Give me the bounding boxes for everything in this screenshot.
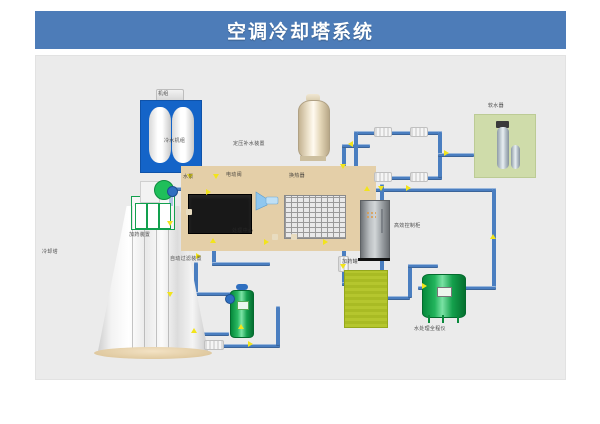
dosing-cell xyxy=(135,203,147,229)
softener-panel[interactable] xyxy=(474,114,536,178)
label-cooling-tower: 冷却塔 xyxy=(42,249,58,255)
chiller-unit[interactable] xyxy=(140,100,202,173)
flow-arrow-down xyxy=(340,164,346,169)
pipe-segment xyxy=(408,264,412,298)
label-softener: 软水器 xyxy=(488,103,504,109)
flow-arrow-right xyxy=(422,283,427,289)
flow-arrow-up xyxy=(191,328,197,333)
pipe-joint xyxy=(186,209,192,215)
label-control-valve: 电动阀 xyxy=(226,172,242,178)
page-root: 空调冷却塔系统 xyxy=(0,0,600,424)
dosing-tank[interactable] xyxy=(344,270,388,328)
flow-arrow-down xyxy=(167,292,173,297)
expansion-joint xyxy=(374,127,392,137)
filter-gauge xyxy=(237,301,249,310)
water-treatment-vessel[interactable] xyxy=(422,274,466,318)
expansion-water-vessel[interactable] xyxy=(298,100,330,160)
pipe-segment xyxy=(212,262,270,266)
expansion-joint xyxy=(204,340,224,350)
vessel-leg xyxy=(457,315,459,323)
pipe-joint xyxy=(272,234,278,240)
expansion-joint xyxy=(410,127,428,137)
flow-arrow-up xyxy=(490,234,496,239)
filter-inlet-valve[interactable] xyxy=(225,294,235,304)
vessel-leg xyxy=(442,315,444,323)
flow-arrow-down xyxy=(167,221,173,226)
chiller-drum xyxy=(149,107,171,163)
vessel-gauge xyxy=(437,287,452,297)
flow-arrow-right xyxy=(248,341,253,347)
cooling-tower-base xyxy=(94,347,212,359)
vessel-leg xyxy=(428,315,430,323)
flow-arrow-down xyxy=(213,174,219,179)
label-dosing-tank: 加药罐 xyxy=(342,259,358,265)
pipe-segment xyxy=(408,264,438,268)
label-expansion-vessel: 定压补水装置 xyxy=(233,141,265,147)
label-chiller-unit: 冷水机组 xyxy=(164,138,185,144)
cabinet-handle xyxy=(381,209,383,233)
flow-arrow-left xyxy=(348,141,353,147)
expansion-joint xyxy=(410,172,428,182)
expansion-joint xyxy=(374,172,392,182)
label-self-cleaning-filter: 自动过滤装置 xyxy=(170,256,202,262)
label-chiller-top-cap: 机组 xyxy=(158,91,169,97)
page-title: 空调冷却塔系统 xyxy=(227,17,374,44)
cabinet-shadow xyxy=(358,258,390,261)
condenser-coil[interactable] xyxy=(284,195,346,239)
label-heat-exchanger: 换热器 xyxy=(289,173,305,179)
flow-arrow-right xyxy=(406,185,411,191)
flow-arrow-right xyxy=(323,239,328,245)
pipe-segment xyxy=(372,188,496,192)
diagram-stage: 冷却塔 冷水机组 机组 定压补水装置 加药装置 水泵 电动阀 换热器 处理中心 … xyxy=(36,56,567,381)
control-cabinet[interactable] xyxy=(360,200,390,260)
pipe-segment xyxy=(276,306,280,346)
label-water-treatment: 水处理全程仪 xyxy=(414,326,446,332)
diagram-canvas: 冷却塔 冷水机组 机组 定压补水装置 加药装置 水泵 电动阀 换热器 处理中心 … xyxy=(35,55,566,380)
chiller-drum xyxy=(172,107,194,163)
brine-tank xyxy=(511,145,520,169)
dosing-cell xyxy=(147,203,159,229)
flow-arrow-up xyxy=(364,186,370,191)
pipe-segment xyxy=(354,131,442,135)
pipe-joint xyxy=(291,234,297,240)
label-water-pump: 水泵 xyxy=(183,174,194,180)
cabinet-indicator-lights xyxy=(366,211,376,219)
flow-arrow-up xyxy=(238,324,244,329)
vessel-base xyxy=(300,156,326,161)
label-dosing-device: 加药装置 xyxy=(129,232,150,238)
flow-arrow-right xyxy=(444,150,449,156)
flow-arrow-down xyxy=(378,186,384,191)
blower-fan[interactable] xyxy=(254,190,280,212)
label-processing-center: 处理中心 xyxy=(232,228,253,234)
page-header: 空调冷却塔系统 xyxy=(35,11,566,49)
flow-arrow-up xyxy=(210,238,216,243)
flow-arrow-right xyxy=(264,239,269,245)
softener-vessel xyxy=(497,127,509,169)
dosing-pump-motor[interactable] xyxy=(167,186,178,197)
label-control-cabinet: 高效控制柜 xyxy=(394,223,421,229)
flow-arrow-right xyxy=(206,189,211,195)
